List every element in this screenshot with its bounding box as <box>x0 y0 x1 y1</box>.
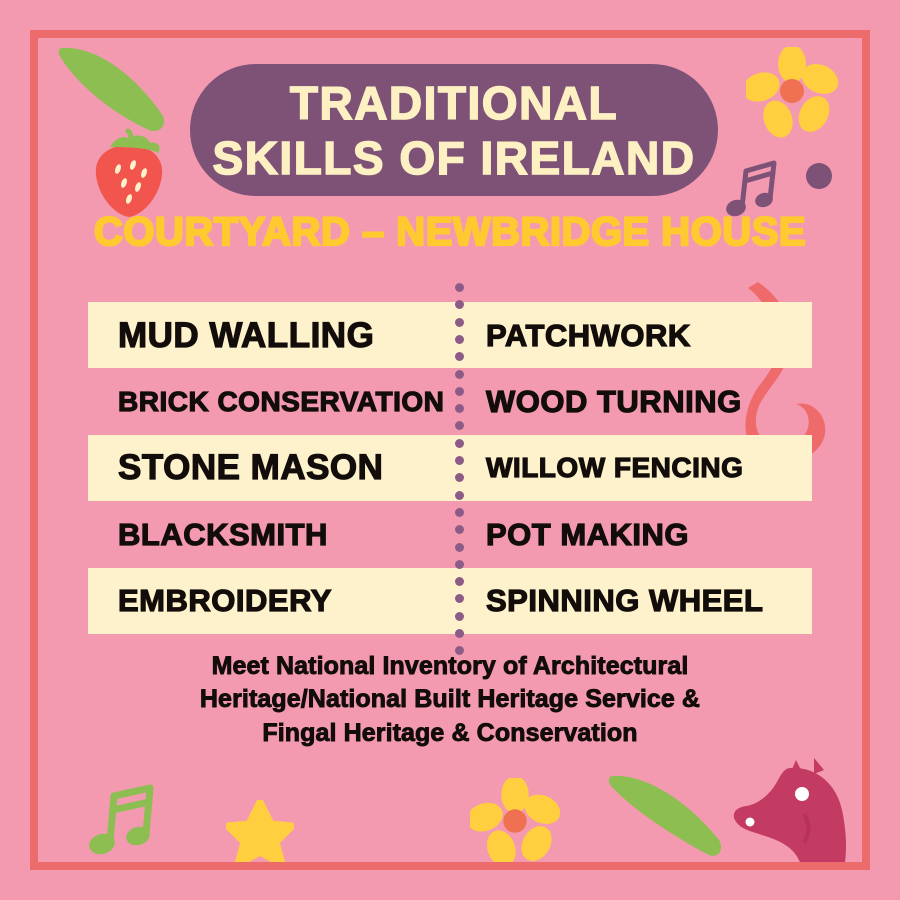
divider-dot <box>455 318 464 327</box>
skills-row: MUD WALLING PATCHWORK <box>88 302 812 368</box>
divider-dot <box>455 629 464 638</box>
skills-row: EMBROIDERY SPINNING WHEEL <box>88 568 812 634</box>
footer-line-2: Heritage/National Built Heritage Service… <box>0 683 900 716</box>
skill-label: SPINNING WHEEL <box>486 585 763 616</box>
dotted-column-divider <box>455 283 465 655</box>
divider-dot <box>455 404 464 413</box>
star-bottom-left-icon <box>226 800 294 866</box>
skill-cell-left: BLACKSMITH <box>88 501 458 567</box>
poster-title-line-1: TRADITIONAL <box>290 80 618 126</box>
skill-cell-right: PATCHWORK <box>458 302 812 368</box>
skill-label: STONE MASON <box>118 450 383 485</box>
divider-dot <box>455 439 464 448</box>
skill-cell-right: WILLOW FENCING <box>458 435 812 501</box>
music-note-bottom-left-icon <box>88 780 160 864</box>
divider-dot <box>455 473 464 482</box>
skills-list: MUD WALLING PATCHWORK BRICK CONSERVATION… <box>88 302 812 634</box>
skill-label: WOOD TURNING <box>486 386 742 417</box>
skill-cell-left: BRICK CONSERVATION <box>88 368 458 434</box>
poster-subtitle: COURTYARD – NEWBRIDGE HOUSE <box>0 210 900 255</box>
skills-row: BRICK CONSERVATION WOOD TURNING <box>88 368 812 434</box>
skill-label: BRICK CONSERVATION <box>118 388 444 416</box>
skill-cell-right: POT MAKING <box>458 501 812 567</box>
footer-line-1: Meet National Inventory of Architectural <box>0 650 900 683</box>
skill-cell-left: EMBROIDERY <box>88 568 458 634</box>
flower-bottom-center-icon <box>470 778 560 868</box>
divider-dot <box>455 300 464 309</box>
skill-label: POT MAKING <box>486 519 689 550</box>
skill-label: BLACKSMITH <box>118 519 328 550</box>
divider-dot <box>455 612 464 621</box>
skill-label: MUD WALLING <box>118 318 374 353</box>
divider-dot <box>455 491 464 500</box>
flower-top-right-icon <box>746 47 838 139</box>
poster-title-line-2: SKILLS OF IRELAND <box>213 135 696 181</box>
divider-dot <box>455 335 464 344</box>
skill-label: PATCHWORK <box>486 320 691 351</box>
divider-dot <box>455 594 464 603</box>
skill-cell-right: WOOD TURNING <box>458 368 812 434</box>
divider-dot <box>455 456 464 465</box>
skills-row: BLACKSMITH POT MAKING <box>88 501 812 567</box>
divider-dot <box>455 525 464 534</box>
divider-dot <box>455 508 464 517</box>
skill-label: EMBROIDERY <box>118 585 332 616</box>
divider-dot <box>455 283 464 292</box>
skill-cell-left: MUD WALLING <box>88 302 458 368</box>
divider-dot <box>455 421 464 430</box>
divider-dot <box>455 543 464 552</box>
green-leaf-bottom-icon <box>607 770 727 860</box>
green-leaf-top-left-icon <box>55 40 175 140</box>
skills-row: STONE MASON WILLOW FENCING <box>88 435 812 501</box>
divider-dot <box>455 560 464 569</box>
title-pill: TRADITIONAL SKILLS OF IRELAND <box>190 64 718 196</box>
horse-head-icon <box>718 758 858 868</box>
divider-dot <box>455 352 464 361</box>
skill-cell-left: STONE MASON <box>88 435 458 501</box>
footer-line-3: Fingal Heritage & Conservation <box>0 717 900 750</box>
purple-dot-top-right-icon <box>806 163 832 189</box>
poster-footer: Meet National Inventory of Architectural… <box>0 650 900 750</box>
divider-dot <box>455 387 464 396</box>
divider-dot <box>455 577 464 586</box>
poster-canvas: TRADITIONAL SKILLS OF IRELAND COURTYARD … <box>0 0 900 900</box>
strawberry-icon <box>88 125 170 220</box>
divider-dot <box>455 370 464 379</box>
skill-label: WILLOW FENCING <box>486 454 743 482</box>
skill-cell-right: SPINNING WHEEL <box>458 568 812 634</box>
